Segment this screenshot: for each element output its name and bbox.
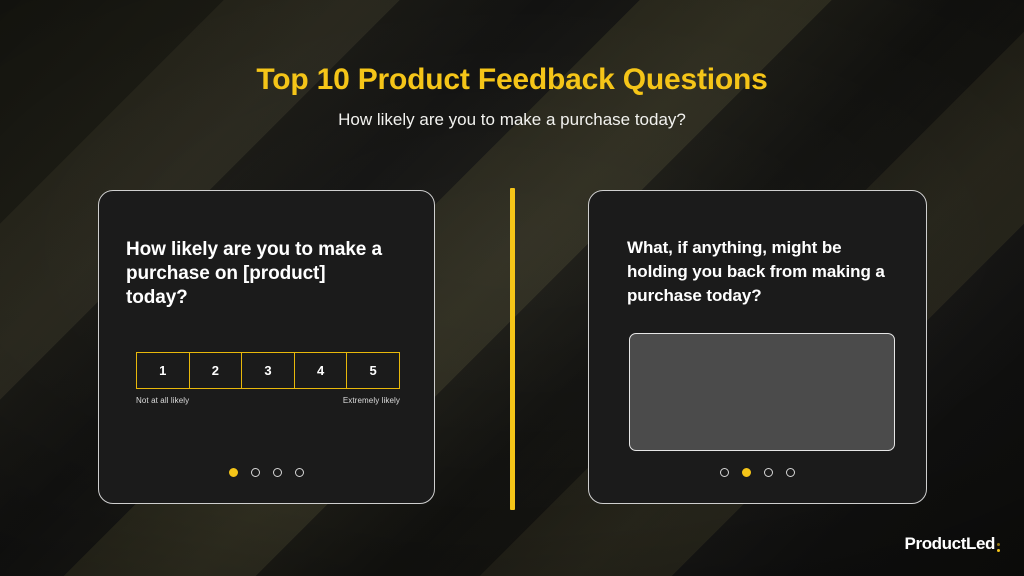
scale-high-label: Extremely likely [343,396,400,405]
pagination-dot-left-2[interactable] [251,468,260,477]
rating-option-2[interactable]: 2 [190,353,243,388]
center-divider [510,188,515,510]
pagination-dot-left-3[interactable] [273,468,282,477]
brand-colon-dot-icon [997,543,1000,554]
slide-canvas: Top 10 Product Feedback Questions How li… [0,0,1024,576]
pagination-dot-right-2[interactable] [742,468,751,477]
pagination-dot-right-3[interactable] [764,468,773,477]
pagination-dot-right-1[interactable] [720,468,729,477]
rating-option-3[interactable]: 3 [242,353,295,388]
rating-option-4[interactable]: 4 [295,353,348,388]
question-text-right: What, if anything, might be holding you … [627,236,902,308]
brand-logo-text: ProductLed [905,534,995,554]
pagination-dot-left-4[interactable] [295,468,304,477]
pagination-dot-left-1[interactable] [229,468,238,477]
slide-header: Top 10 Product Feedback Questions How li… [0,0,1024,130]
rating-option-5[interactable]: 5 [347,353,399,388]
rating-option-1[interactable]: 1 [137,353,190,388]
rating-scale[interactable]: 12345 [136,352,400,389]
feedback-card-right: What, if anything, might be holding you … [588,190,927,504]
rating-scale-group: 12345 Not at all likely Extremely likely [136,352,400,405]
page-title: Top 10 Product Feedback Questions [0,63,1024,97]
answer-textarea[interactable] [629,333,895,451]
rating-scale-labels: Not at all likely Extremely likely [136,396,400,405]
pagination-dots-left[interactable] [99,468,434,477]
pagination-dot-right-4[interactable] [786,468,795,477]
question-text-left: How likely are you to make a purchase on… [126,238,391,310]
scale-low-label: Not at all likely [136,396,189,405]
brand-logo: ProductLed [905,534,1000,554]
pagination-dots-right[interactable] [589,468,926,477]
page-subtitle: How likely are you to make a purchase to… [0,110,1024,130]
feedback-card-left: How likely are you to make a purchase on… [98,190,435,504]
